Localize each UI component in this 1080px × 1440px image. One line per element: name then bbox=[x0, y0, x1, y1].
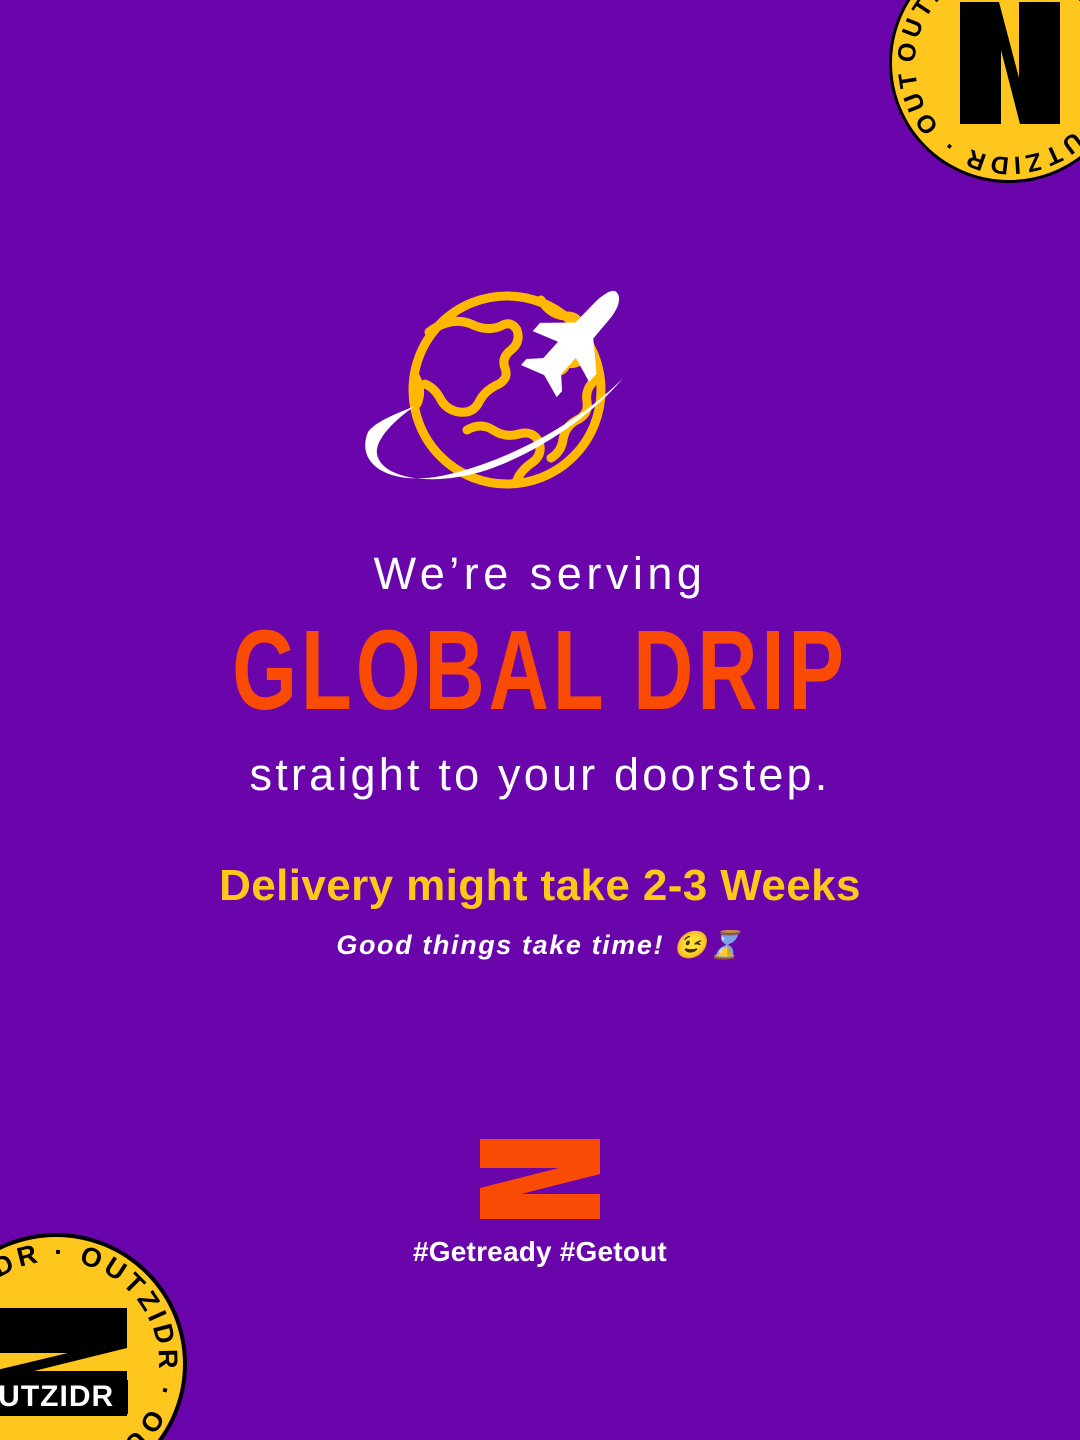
outzidr-badge-bottom-left: OUTZIDR · OUTZIDR · OUTZIDR · OUTZIDR · … bbox=[0, 1230, 190, 1440]
poster-canvas: OUTZIDR · OUTZIDR · OUTZIDR · OUTZIDR · bbox=[0, 0, 1080, 1440]
outzidr-badge-top-right: OUTZIDR · OUTZIDR · OUTZIDR · OUTZIDR · bbox=[886, 0, 1080, 186]
delivery-notice: Delivery might take 2-3 Weeks bbox=[0, 861, 1080, 912]
headline-line-2-global-drip: GLOBAL DRIP bbox=[16, 614, 1064, 730]
headline-block: We’re serving GLOBAL DRIP straight to yo… bbox=[0, 548, 1080, 961]
headline-line-1: We’re serving bbox=[0, 548, 1080, 600]
headline-line-3: straight to your doorstep. bbox=[0, 749, 1080, 801]
globe-with-airplane-illustration bbox=[355, 272, 725, 517]
outzidr-z-logo bbox=[475, 1136, 605, 1222]
svg-text:OUTZIDR: OUTZIDR bbox=[0, 1380, 114, 1413]
delivery-subnote: Good things take time! 😉⌛ bbox=[0, 929, 1080, 961]
